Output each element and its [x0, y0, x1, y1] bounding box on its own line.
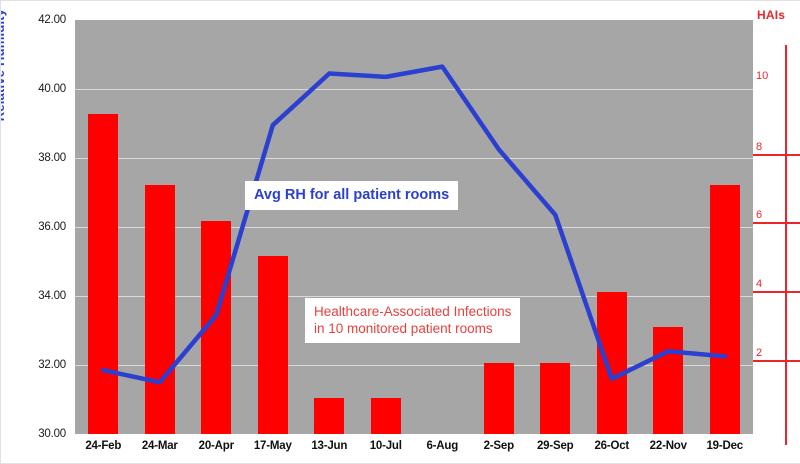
bar-series-item — [314, 398, 344, 434]
bar-series-item — [653, 327, 683, 434]
annotation-hais-line2: in 10 monitored patient rooms — [314, 320, 511, 337]
bar-series-item — [88, 114, 118, 434]
y-axis-right-tick-mark — [753, 291, 800, 293]
y-axis-left-tick: 30.00 — [0, 428, 66, 440]
y-axis-left-tick: 40.00 — [0, 83, 66, 95]
y-axis-left-tick: 34.00 — [0, 290, 66, 302]
y-axis-right-tick: 6 — [756, 209, 762, 221]
y-axis-left-tick: 32.00 — [0, 359, 66, 371]
y-axis-right-tick: 10 — [756, 70, 768, 82]
gridline — [75, 227, 753, 228]
bar-series-item — [201, 221, 231, 434]
y-axis-right-tick-mark — [753, 360, 800, 362]
y-axis-right-tick: 2 — [756, 347, 762, 359]
y-axis-right-tick-mark — [753, 222, 800, 224]
y-axis-left-tick: 42.00 — [0, 14, 66, 26]
annotation-avg-rh: Avg RH for all patient rooms — [245, 181, 458, 210]
annotation-hais-line1: Healthcare-Associated Infections — [314, 303, 511, 320]
y-axis-left-tick: 36.00 — [0, 221, 66, 233]
bar-series-item — [371, 398, 401, 434]
y-axis-right-tick: 4 — [756, 278, 762, 290]
y-axis-right-title: HAIs — [757, 8, 785, 22]
dual-axis-chart: Relative Humidity 42.00 40.00 38.00 36.0… — [0, 0, 800, 463]
annotation-hais: Healthcare-Associated Infections in 10 m… — [305, 298, 520, 343]
gridline — [75, 296, 753, 297]
bar-series-item — [258, 256, 288, 434]
x-axis-tick: 19-Dec — [690, 440, 760, 452]
gridline — [75, 365, 753, 366]
bar-series-item — [540, 363, 570, 434]
bar-series-item — [710, 185, 740, 434]
y-axis-right-tick: 8 — [756, 141, 762, 153]
y-axis-right-line — [785, 45, 787, 445]
bar-series-item — [145, 185, 175, 434]
gridline — [75, 158, 753, 159]
y-axis-right-tick-mark — [753, 154, 800, 156]
plot-area: Avg RH for all patient rooms Healthcare-… — [75, 20, 753, 434]
bar-series-item — [597, 292, 627, 434]
y-axis-left-tick: 38.00 — [0, 152, 66, 164]
gridline — [75, 89, 753, 90]
bar-series-item — [484, 363, 514, 434]
